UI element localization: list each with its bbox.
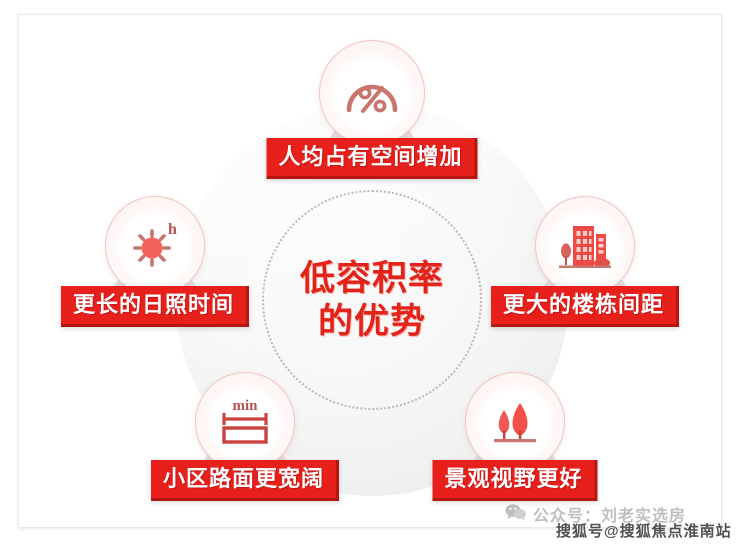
node-label-banner[interactable]: 更大的楼栋间距 — [491, 286, 679, 327]
node-label-banner[interactable]: 更长的日照时间 — [61, 286, 249, 327]
percent-gauge-icon — [343, 68, 401, 118]
node-label-banner[interactable]: 人均占有空间增加 — [266, 138, 477, 179]
infographic-canvas: 低容积率 的优势 人均占有空间增加 — [0, 0, 740, 547]
svg-text:h: h — [168, 221, 177, 238]
icon-bubble — [319, 40, 425, 146]
svg-text:min: min — [232, 398, 258, 414]
buildings-spacing-icon — [555, 218, 615, 274]
sohu-watermark-text: 搜狐号@搜狐焦点淮南站 — [556, 520, 732, 541]
node-label-banner[interactable]: 小区路面更宽阔 — [151, 460, 339, 501]
road-width-min-icon: min — [214, 394, 276, 450]
sun-hours-icon: h — [126, 218, 184, 274]
icon-bubble: h — [105, 196, 205, 296]
icon-bubble — [465, 372, 565, 472]
trees-landscape-icon — [486, 396, 544, 448]
icon-bubble — [535, 196, 635, 296]
wechat-icon — [505, 503, 527, 526]
dotted-circle-border — [262, 190, 482, 410]
icon-bubble: min — [195, 372, 295, 472]
node-label-banner[interactable]: 景观视野更好 — [432, 460, 597, 501]
